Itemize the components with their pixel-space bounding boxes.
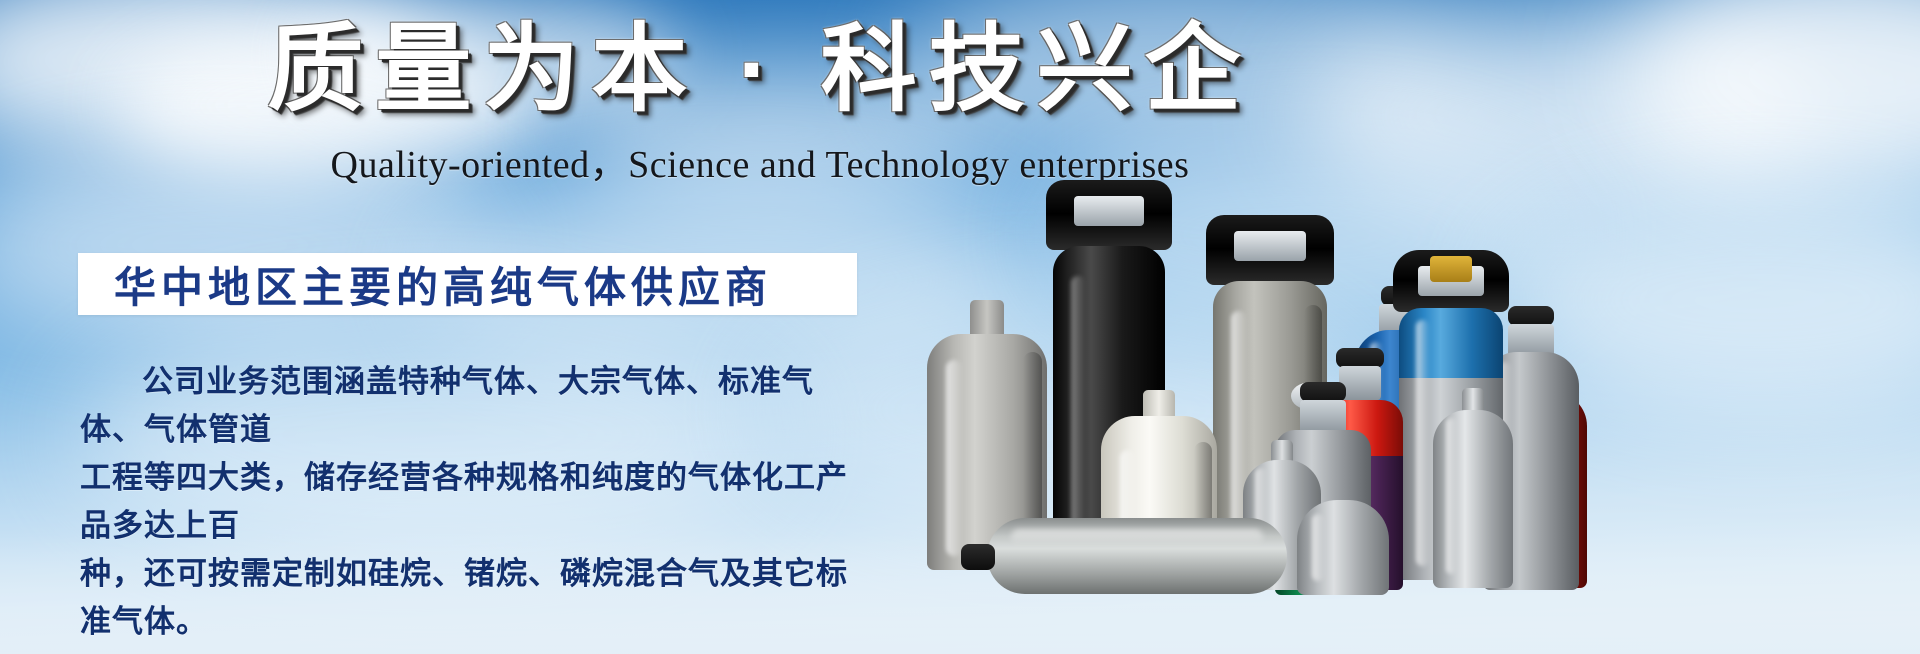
cylinder-cap [1046,180,1171,250]
cylinder-highlight [1416,320,1430,566]
cylinder-highlight [946,360,962,556]
cylinder-neck [1271,440,1293,462]
gas-cylinder-collage [905,0,1545,654]
cylinder-cap [1206,215,1334,285]
cylinder-body [1297,500,1389,595]
cylinder-valve [1300,400,1346,434]
paragraph-line: 工程等四大类，储存经营各种规格和纯度的气体化工产品多达上百 [80,454,870,550]
slogan-text: 华中地区主要的高纯气体供应商 [78,254,772,315]
slogan-box: 华中地区主要的高纯气体供应商 [78,253,857,315]
cylinder-grey-horizontal [987,518,1287,594]
brass-valve-icon [1430,256,1472,282]
paragraph-line: 种，还可按需定制如硅烷、锗烷、磷烷混合气及其它标准气体。 [80,550,870,646]
cylinder-highlight [1011,529,1263,546]
cloud-shape [120,30,540,180]
promo-banner: 质量为本 · 科技兴企 Quality-oriented，Science and… [0,0,1920,654]
cylinder-body [1399,308,1503,380]
cylinder-highlight [1446,418,1456,574]
cloud-shape [1620,0,1920,200]
cloud-shape [300,0,680,120]
cylinder-neck [1462,388,1484,412]
cylinder-knob [1508,306,1554,326]
cylinder-bottle-bottom [1297,500,1389,595]
cylinder-knob [1336,348,1384,368]
cylinder-aluminium [1433,388,1513,588]
cylinder-knob [1300,382,1346,402]
description-paragraph: 公司业务范围涵盖特种气体、大宗气体、标准气体、气体管道 工程等四大类，储存经营各… [80,358,870,646]
paragraph-line: 公司业务范围涵盖特种气体、大宗气体、标准气体、气体管道 [80,358,870,454]
cloud-shape [0,0,430,160]
cylinder-valve [961,544,995,570]
cylinder-highlight [1312,514,1324,581]
